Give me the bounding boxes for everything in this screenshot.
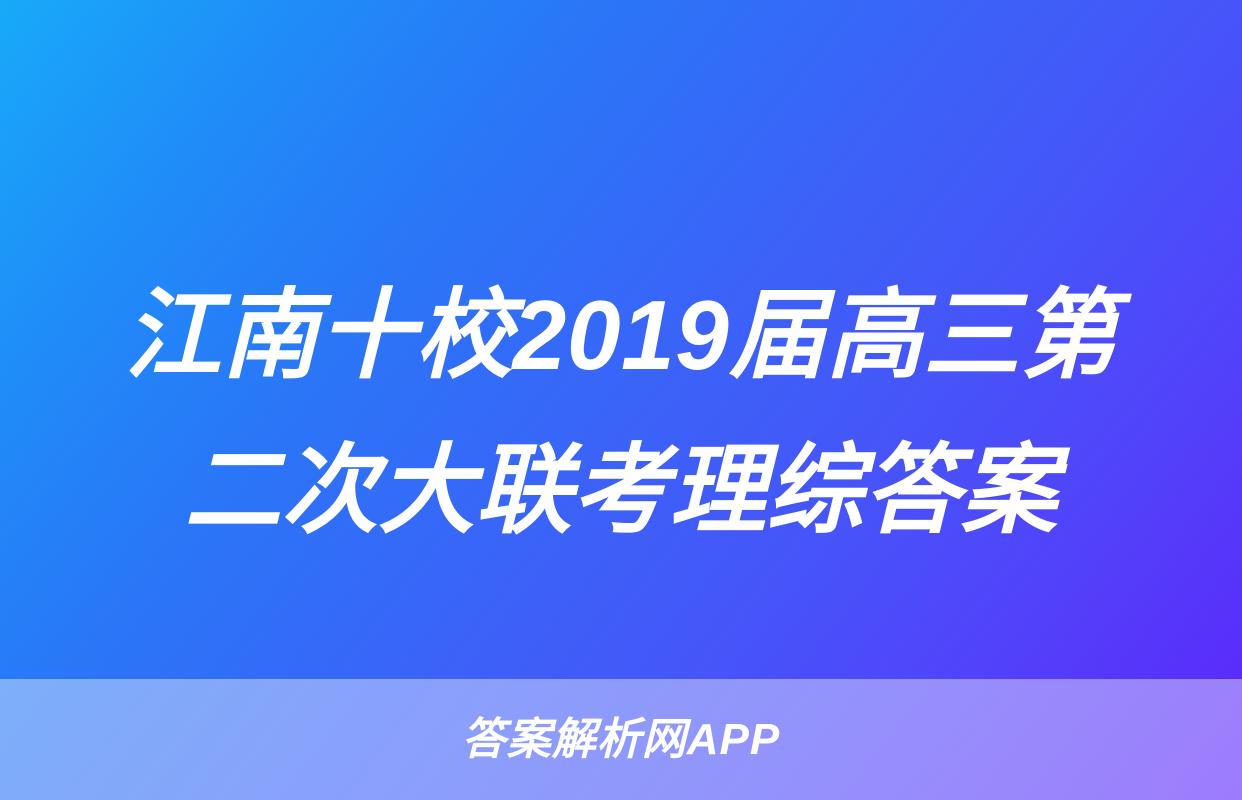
page-title-line-1: 江南十校2019届高三第 [37,258,1205,413]
footer-band: 答案解析网APP [0,679,1242,800]
page-title: 江南十校2019届高三第 二次大联考理综答案 [0,258,1242,568]
app-brand-label: 答案解析网APP [0,718,1242,762]
poster-canvas: 江南十校2019届高三第 二次大联考理综答案 答案解析网APP [0,0,1242,800]
page-title-line-2: 二次大联考理综答案 [37,413,1205,568]
